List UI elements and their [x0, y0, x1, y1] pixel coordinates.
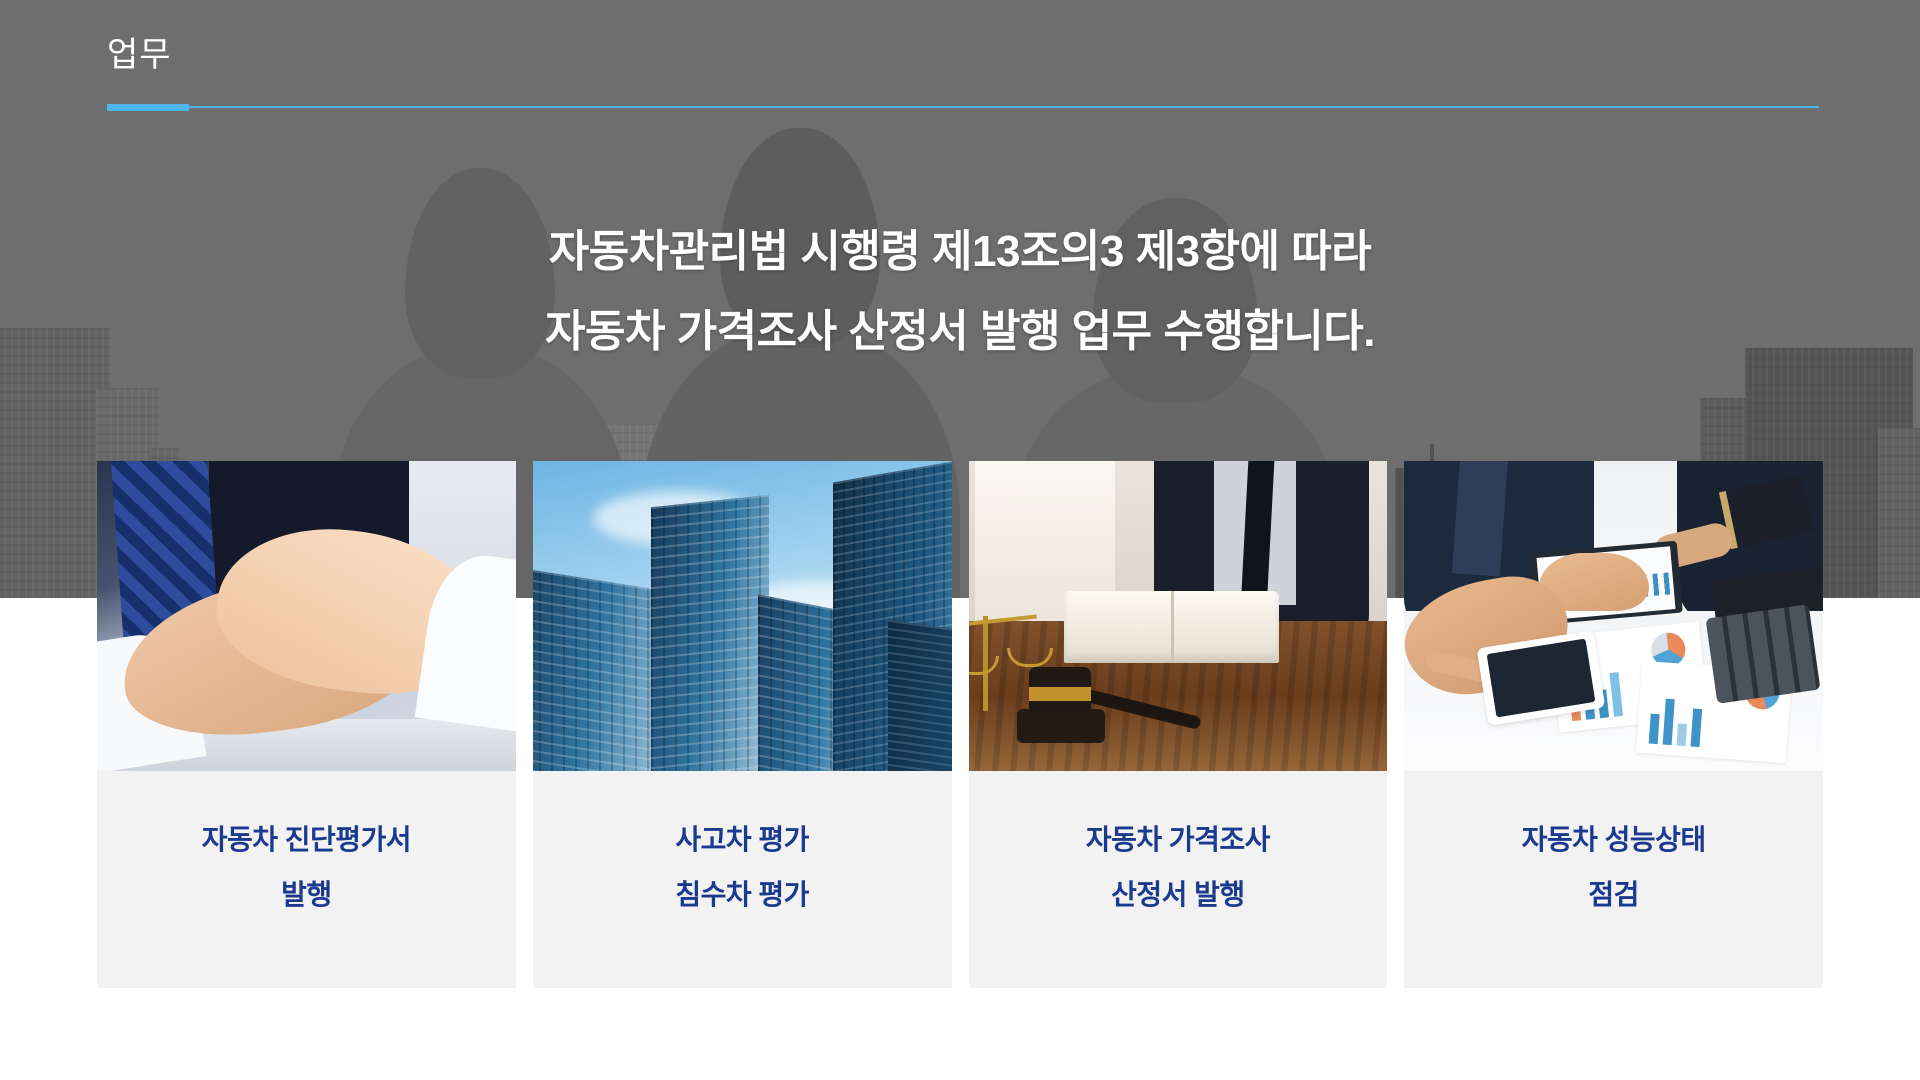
photo-bar: [1691, 709, 1703, 748]
card-3-caption-line-2: 산정서 발행: [1111, 868, 1245, 923]
photo-tower: [651, 495, 769, 771]
photo-tower: [533, 567, 665, 771]
card-3-caption-line-1: 자동차 가격조사: [1086, 813, 1270, 868]
section-divider: [107, 104, 1819, 110]
card-1-caption-line-2: 발행: [281, 868, 332, 923]
handshake-photo: [97, 461, 516, 771]
photo-bar: [1610, 672, 1624, 717]
photo-bar: [1677, 724, 1688, 747]
headline-line-1: 자동차관리법 시행령 제13조의3 제3항에 따라: [0, 212, 1920, 292]
business-meeting-photo: [1404, 461, 1823, 771]
card-4-caption-line-1: 자동차 성능상태: [1522, 813, 1706, 868]
service-card-4[interactable]: 자동차 성능상태 점검: [1404, 461, 1823, 988]
service-card-3[interactable]: 자동차 가격조사 산정서 발행: [969, 461, 1388, 988]
photo-sound-block: [1017, 709, 1105, 743]
divider-thin-line: [107, 106, 1819, 108]
service-card-1-caption: 자동차 진단평가서 발행: [97, 771, 516, 988]
photo-gavel-gold-band: [1029, 687, 1091, 701]
headline-line-2: 자동차 가격조사 산정서 발행 업무 수행합니다.: [0, 292, 1920, 372]
service-card-grid: 자동차 진단평가서 발행 사고차 평가 침수차 평가: [97, 461, 1823, 988]
card-4-caption-line-2: 점검: [1588, 868, 1639, 923]
skyscrapers-photo: [533, 461, 952, 771]
gavel-law-photo: [969, 461, 1388, 771]
photo-open-book: [1064, 591, 1279, 663]
section-header: 업무: [107, 38, 1819, 110]
photo-bar: [1663, 699, 1675, 746]
service-card-2[interactable]: 사고차 평가 침수차 평가: [533, 461, 952, 988]
photo-bar: [1649, 714, 1660, 745]
card-2-caption-line-2: 침수차 평가: [675, 868, 809, 923]
service-card-4-caption: 자동차 성능상태 점검: [1404, 771, 1823, 988]
page-title: 업무: [107, 38, 1819, 72]
divider-accent-segment: [107, 104, 189, 111]
hero-headline: 자동차관리법 시행령 제13조의3 제3항에 따라 자동차 가격조사 산정서 발…: [0, 212, 1920, 372]
service-card-2-caption: 사고차 평가 침수차 평가: [533, 771, 952, 988]
photo-calculator: [1706, 604, 1821, 704]
service-card-1[interactable]: 자동차 진단평가서 발행: [97, 461, 516, 988]
photo-tower: [888, 620, 952, 771]
card-1-caption-line-1: 자동차 진단평가서: [202, 813, 411, 868]
service-card-3-caption: 자동차 가격조사 산정서 발행: [969, 771, 1388, 988]
card-2-caption-line-1: 사고차 평가: [675, 813, 809, 868]
